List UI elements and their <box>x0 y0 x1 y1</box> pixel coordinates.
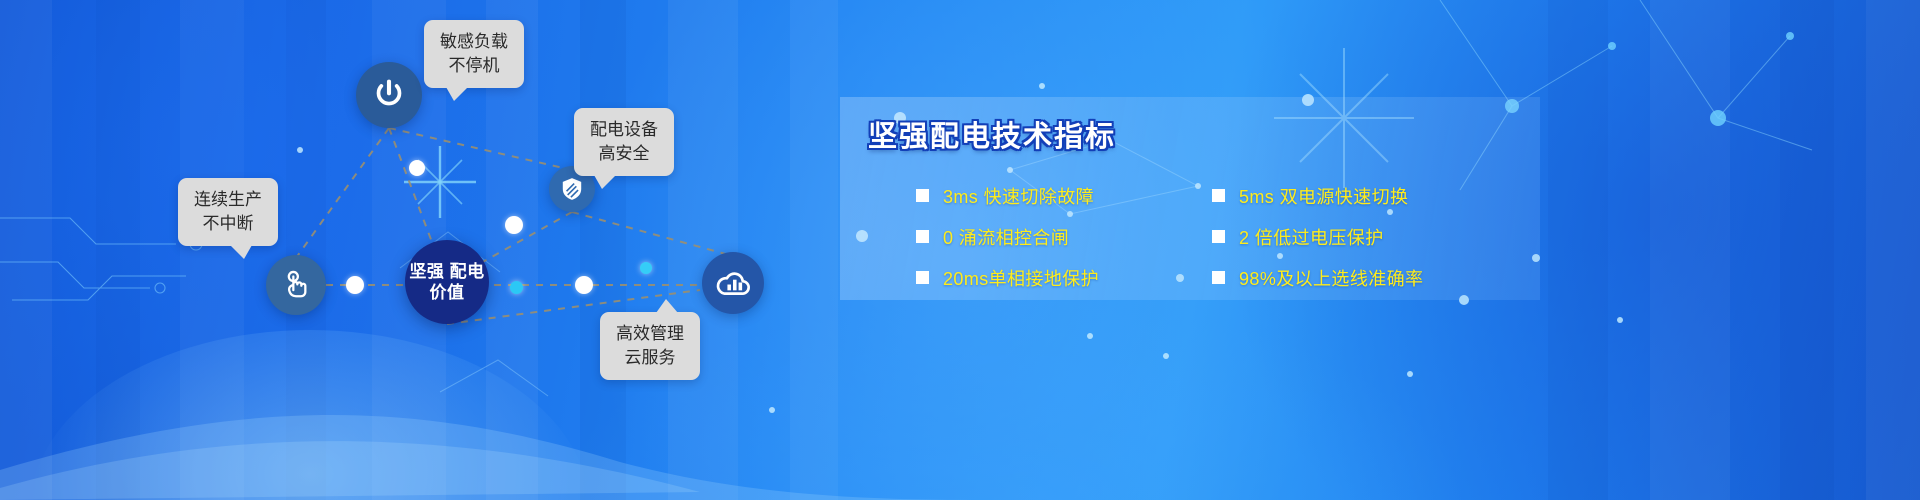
tech-spec-panel: 坚强配电技术指标 3ms 快速切除故障 5ms 双电源快速切换 0 涌流相控合闸… <box>840 97 1540 300</box>
callout-equipment-safety: 配电设备 高安全 <box>574 108 674 176</box>
spec-list: 3ms 快速切除故障 5ms 双电源快速切换 0 涌流相控合闸 2 倍低过电压保… <box>916 175 1536 298</box>
hub-label: 坚强 配电 价值 <box>405 261 489 303</box>
bullet-square-icon <box>1212 230 1225 243</box>
spec-label: 20ms单相接地保护 <box>943 265 1099 291</box>
power-icon <box>372 78 406 112</box>
connector-dot <box>575 276 593 294</box>
bullet-square-icon <box>1212 271 1225 284</box>
node-continuous-production[interactable] <box>266 255 326 315</box>
callout-continuous-production: 连续生产 不中断 <box>178 178 278 246</box>
promo-banner: 坚强 配电 价值 敏感负载 不停机 配电设备 高安全 连续生产 不中断 高效管理… <box>0 0 1920 500</box>
node-sensitive-load[interactable] <box>356 62 422 128</box>
panel-title: 坚强配电技术指标 <box>868 113 1116 155</box>
connector-dot-cyan <box>510 281 523 294</box>
diagram-hub: 坚强 配电 价值 <box>405 240 489 324</box>
spec-label: 3ms 快速切除故障 <box>943 183 1094 209</box>
node-cloud-service[interactable] <box>702 252 764 314</box>
spec-item: 5ms 双电源快速切换 <box>1212 183 1536 209</box>
bullet-square-icon <box>916 230 929 243</box>
spec-label: 98%及以上选线准确率 <box>1239 265 1423 291</box>
connector-dot <box>346 276 364 294</box>
bullet-square-icon <box>916 271 929 284</box>
spec-item: 0 涌流相控合闸 <box>916 224 1212 250</box>
cloud-chart-icon <box>714 264 752 302</box>
shield-icon <box>559 176 585 202</box>
connector-dot-cyan <box>640 262 652 274</box>
connector-dot <box>409 160 425 176</box>
spec-item: 2 倍低过电压保护 <box>1212 224 1536 250</box>
callout-cloud-service: 高效管理 云服务 <box>600 312 700 380</box>
connector-dot <box>505 216 523 234</box>
bullet-square-icon <box>1212 189 1225 202</box>
spec-label: 0 涌流相控合闸 <box>943 224 1069 250</box>
spec-item: 20ms单相接地保护 <box>916 265 1212 291</box>
spec-item: 3ms 快速切除故障 <box>916 183 1212 209</box>
bullet-square-icon <box>916 189 929 202</box>
callout-sensitive-load: 敏感负载 不停机 <box>424 20 524 88</box>
hand-tap-icon <box>280 269 312 301</box>
value-network-diagram: 坚强 配电 价值 敏感负载 不停机 配电设备 高安全 连续生产 不中断 高效管理… <box>0 0 860 500</box>
spec-label: 2 倍低过电压保护 <box>1239 224 1384 250</box>
spec-label: 5ms 双电源快速切换 <box>1239 183 1408 209</box>
spec-item: 98%及以上选线准确率 <box>1212 265 1536 291</box>
